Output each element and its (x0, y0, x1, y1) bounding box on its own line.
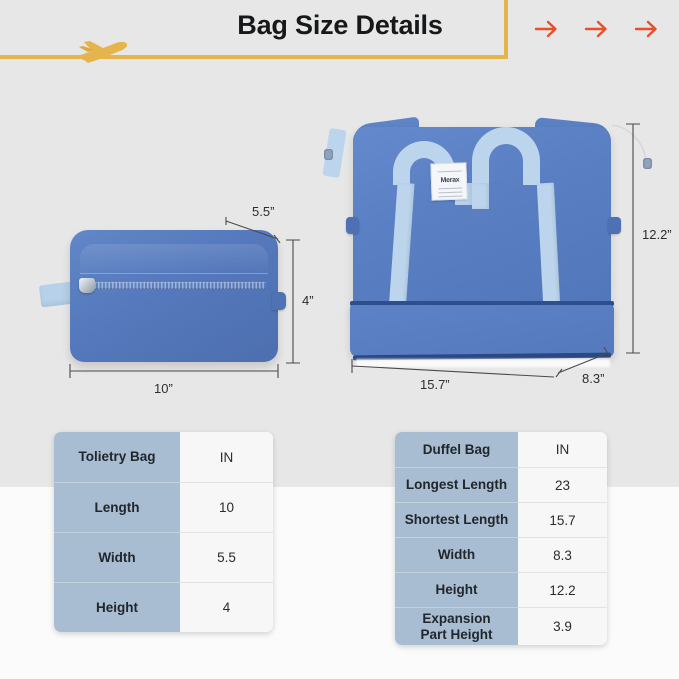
row-label: Length (54, 482, 180, 532)
arrow-right-icon (584, 18, 610, 40)
infographic-page: Bag Size Details (0, 0, 679, 679)
row-label: ExpansionPart Height (395, 607, 518, 645)
duffel-left-toggle-icon (324, 149, 333, 160)
zipper-pull-icon (79, 278, 95, 293)
table-row: Width 8.3 (395, 537, 607, 572)
row-value: 4 (180, 582, 273, 632)
row-label: Shortest Length (395, 502, 518, 537)
duffel-left-d-ring (346, 217, 359, 234)
arrow-group (534, 18, 660, 40)
label-text-line (438, 171, 462, 173)
toiletry-length-label: 10” (154, 381, 173, 396)
duffel-spec-table: Duffel Bag IN Longest Length 23 Shortest… (395, 432, 607, 645)
header-gold-rule-vertical (504, 0, 508, 59)
table-header-unit: IN (518, 432, 607, 467)
table-row: Duffel Bag IN (395, 432, 607, 467)
table-row: Shortest Length 15.7 (395, 502, 607, 537)
toiletry-height-label: 4” (302, 293, 314, 308)
table-row: Height 12.2 (395, 572, 607, 607)
row-value: 15.7 (518, 502, 607, 537)
duffel-handle-right-strap-a (472, 183, 489, 209)
toiletry-bag-body (70, 230, 278, 362)
row-value: 8.3 (518, 537, 607, 572)
label-text-line (438, 192, 462, 194)
duffel-width-label: 8.3” (582, 371, 604, 386)
row-value: 5.5 (180, 532, 273, 582)
duffel-height-label: 12.2” (642, 227, 672, 242)
row-value: 10 (180, 482, 273, 532)
table-row: Width 5.5 (54, 532, 273, 582)
toiletry-depth-label: 5.5” (252, 204, 274, 219)
arrow-right-icon (634, 18, 660, 40)
toiletry-spec-table: Tolietry Bag IN Length 10 Width 5.5 Heig… (54, 432, 273, 632)
duffel-length-label: 15.7” (420, 377, 450, 392)
row-label: Height (395, 572, 518, 607)
duffel-brand-label: Merax (430, 162, 467, 200)
row-value: 12.2 (518, 572, 607, 607)
table-row: Tolietry Bag IN (54, 432, 273, 482)
toiletry-zipper-track (84, 282, 266, 289)
toiletry-length-dimension-line (66, 361, 286, 383)
row-value: 3.9 (518, 607, 607, 645)
row-label: Longest Length (395, 467, 518, 502)
table-header-unit: IN (180, 432, 273, 482)
row-label: Height (54, 582, 180, 632)
toiletry-bag-illustration: 5.5” 4” 10” (40, 195, 330, 410)
duffel-length-dimension-line (348, 357, 560, 379)
table-row: Length 10 (54, 482, 273, 532)
row-label: Width (395, 537, 518, 572)
label-text-line (438, 188, 462, 190)
table-row: Height 4 (54, 582, 273, 632)
table-header-name: Tolietry Bag (54, 432, 180, 482)
airplane-icon (70, 30, 130, 64)
toiletry-top-seam (80, 244, 268, 274)
page-title: Bag Size Details (190, 10, 490, 41)
table-row: ExpansionPart Height 3.9 (395, 607, 607, 645)
row-label: Width (54, 532, 180, 582)
duffel-bag-illustration: Merax 12.2” 15.7” 8.3” (320, 105, 679, 410)
label-text-line (439, 196, 463, 198)
table-row: Longest Length 23 (395, 467, 607, 502)
row-value: 23 (518, 467, 607, 502)
header: Bag Size Details (0, 0, 679, 90)
arrow-right-icon (534, 18, 560, 40)
table-header-name: Duffel Bag (395, 432, 518, 467)
brand-name: Merax (432, 176, 468, 184)
